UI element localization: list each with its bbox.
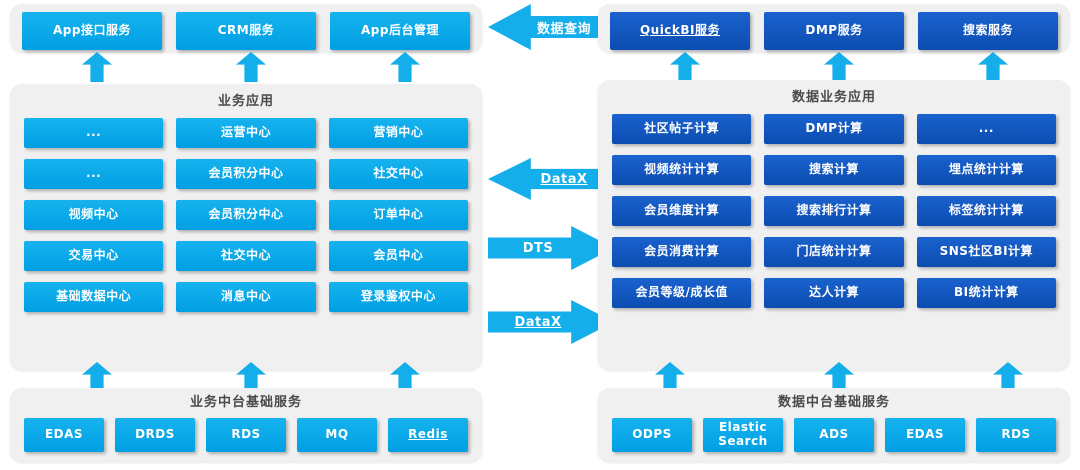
right-app-panel-title: 数据业务应用 [598, 80, 1070, 104]
left-app-panel-title: 业务应用 [10, 84, 482, 108]
center-box[interactable]: 社交中心 [176, 241, 315, 271]
connector-data-query: 数据查询 [488, 4, 614, 50]
infra-service-label: EDAS [906, 428, 944, 442]
infra-service-label: DRDS [135, 428, 175, 442]
center-box[interactable]: 营销中心 [329, 118, 468, 148]
compute-box[interactable]: BI统计计算 [917, 278, 1056, 308]
compute-box[interactable]: 搜索排行计算 [764, 196, 903, 226]
service-box-dmp[interactable]: DMP服务 [764, 12, 904, 50]
infra-service-label: RDS [1001, 428, 1030, 442]
infra-service-label: RDS [231, 428, 260, 442]
left-infra-panel-title: 业务中台基础服务 [10, 388, 482, 409]
infra-service-edas[interactable]: EDAS [885, 418, 965, 452]
infra-service-ads[interactable]: ADS [794, 418, 874, 452]
infra-service-edas[interactable]: EDAS [24, 418, 104, 452]
arrow-up-to-app-interface [82, 52, 112, 82]
right-top-service-panel: QuickBI服务 DMP服务 搜索服务 [598, 4, 1070, 52]
compute-box[interactable]: 会员维度计算 [612, 196, 751, 226]
center-label: 登录鉴权中心 [361, 290, 436, 304]
compute-box[interactable]: 埋点统计计算 [917, 155, 1056, 185]
compute-box[interactable]: 标签统计计算 [917, 196, 1056, 226]
service-box-crm[interactable]: CRM服务 [176, 12, 316, 50]
compute-label: 达人计算 [809, 286, 859, 300]
infra-service-odps[interactable]: ODPS [612, 418, 692, 452]
compute-label: BI统计计算 [954, 286, 1019, 300]
center-box[interactable]: 视频中心 [24, 200, 163, 230]
center-label: 会员积分中心 [208, 208, 283, 222]
arrow-up-to-app-admin [390, 52, 420, 82]
center-label: ... [86, 167, 101, 181]
infra-service-label: MQ [325, 428, 348, 442]
compute-box[interactable]: 会员等级/成长值 [612, 278, 751, 308]
left-infra-service-row: EDAS DRDS RDS MQ Redis [24, 418, 468, 452]
compute-box[interactable]: 门店统计计算 [764, 237, 903, 267]
connector-label: 数据查询 [537, 18, 591, 37]
left-top-service-panel: App接口服务 CRM服务 App后台管理 [10, 4, 482, 52]
service-label: App接口服务 [53, 24, 131, 38]
compute-box[interactable]: 搜索计算 [764, 155, 903, 185]
compute-label: 搜索排行计算 [796, 204, 871, 218]
infra-service-label: Redis [408, 428, 448, 442]
center-box[interactable]: 会员中心 [329, 241, 468, 271]
infra-service-redis[interactable]: Redis [388, 418, 468, 452]
center-label: 社交中心 [221, 249, 271, 263]
compute-label: 搜索计算 [809, 163, 859, 177]
infra-service-rds[interactable]: RDS [976, 418, 1056, 452]
service-box-app-interface[interactable]: App接口服务 [22, 12, 162, 50]
center-box[interactable]: ... [24, 118, 163, 148]
compute-label: SNS社区BI计算 [940, 245, 1033, 259]
infra-service-elasticsearch[interactable]: Elastic Search [703, 418, 783, 452]
connector-datax-top: DataX [488, 158, 614, 200]
infra-service-label: ODPS [632, 428, 672, 442]
center-label: 运营中心 [221, 126, 271, 140]
infra-service-rds[interactable]: RDS [206, 418, 286, 452]
compute-label: 标签统计计算 [949, 204, 1024, 218]
service-box-quickbi[interactable]: QuickBI服务 [610, 12, 750, 50]
compute-label: 埋点统计计算 [949, 163, 1024, 177]
center-label: 基础数据中心 [56, 290, 131, 304]
arrow-up-to-crm [236, 52, 266, 82]
compute-box[interactable]: 会员消费计算 [612, 237, 751, 267]
service-label: DMP服务 [805, 24, 862, 38]
left-center-grid: ... 运营中心 营销中心 ... 会员积分中心 社交中心 视频中心 会员积分中… [24, 118, 468, 312]
connector-datax-bottom: DataX [488, 300, 614, 344]
center-label: 交易中心 [69, 249, 119, 263]
compute-label: 会员等级/成长值 [635, 286, 727, 300]
center-label: 营销中心 [373, 126, 423, 140]
center-label: 视频中心 [69, 208, 119, 222]
infra-service-label: Elastic Search [705, 421, 781, 449]
connector-label: DataX [540, 172, 587, 187]
connector-label: DataX [514, 315, 561, 330]
service-label: CRM服务 [218, 24, 275, 38]
center-box[interactable]: 会员积分中心 [176, 200, 315, 230]
arrow-up-to-search [978, 52, 1008, 82]
center-box[interactable]: 基础数据中心 [24, 282, 163, 312]
right-infra-service-row: ODPS Elastic Search ADS EDAS RDS [612, 418, 1056, 452]
compute-label: 会员维度计算 [644, 204, 719, 218]
center-box[interactable]: 订单中心 [329, 200, 468, 230]
compute-label: 门店统计计算 [796, 245, 871, 259]
center-box[interactable]: 运营中心 [176, 118, 315, 148]
infra-service-label: ADS [819, 428, 848, 442]
center-label: 社交中心 [373, 167, 423, 181]
compute-box[interactable]: 达人计算 [764, 278, 903, 308]
left-infra-panel: 业务中台基础服务 EDAS DRDS RDS MQ Redis [10, 388, 482, 462]
center-box[interactable]: 消息中心 [176, 282, 315, 312]
compute-box[interactable]: 社区帖子计算 [612, 114, 751, 144]
compute-label: 会员消费计算 [644, 245, 719, 259]
arrow-up-to-dmp [824, 52, 854, 82]
right-infra-panel: 数据中台基础服务 ODPS Elastic Search ADS EDAS RD… [598, 388, 1070, 462]
service-box-search[interactable]: 搜索服务 [918, 12, 1058, 50]
arrow-up-to-quickbi [670, 52, 700, 82]
architecture-diagram: App接口服务 CRM服务 App后台管理 业务应用 ... 运营中心 营销中心… [0, 0, 1080, 470]
compute-label: 社区帖子计算 [644, 122, 719, 136]
center-box[interactable]: 社交中心 [329, 159, 468, 189]
compute-box[interactable]: 视频统计计算 [612, 155, 751, 185]
center-box[interactable]: 会员积分中心 [176, 159, 315, 189]
center-box[interactable]: 登录鉴权中心 [329, 282, 468, 312]
compute-label: 视频统计计算 [644, 163, 719, 177]
infra-service-mq[interactable]: MQ [297, 418, 377, 452]
center-label: ... [86, 126, 101, 140]
center-box[interactable]: ... [24, 159, 163, 189]
compute-label: ... [979, 122, 994, 136]
right-compute-grid: 社区帖子计算 DMP计算 ... 视频统计计算 搜索计算 埋点统计计算 会员维度… [612, 114, 1056, 308]
right-data-app-panel: 数据业务应用 社区帖子计算 DMP计算 ... 视频统计计算 搜索计算 埋点统计… [598, 80, 1070, 370]
service-label: 搜索服务 [963, 24, 1013, 38]
connector-label: DTS [523, 241, 554, 256]
right-infra-panel-title: 数据中台基础服务 [598, 388, 1070, 409]
compute-label: DMP计算 [805, 122, 862, 136]
center-label: 会员积分中心 [208, 167, 283, 181]
compute-box[interactable]: ... [917, 114, 1056, 144]
infra-service-label: EDAS [45, 428, 83, 442]
center-label: 消息中心 [221, 290, 271, 304]
service-label: App后台管理 [361, 24, 439, 38]
connector-dts: DTS [488, 226, 614, 270]
service-label: QuickBI服务 [640, 24, 720, 38]
center-label: 会员中心 [373, 249, 423, 263]
center-box[interactable]: 交易中心 [24, 241, 163, 271]
center-label: 订单中心 [373, 208, 423, 222]
compute-box[interactable]: SNS社区BI计算 [917, 237, 1056, 267]
service-box-app-admin[interactable]: App后台管理 [330, 12, 470, 50]
left-business-app-panel: 业务应用 ... 运营中心 营销中心 ... 会员积分中心 社交中心 视频中心 … [10, 84, 482, 370]
infra-service-drds[interactable]: DRDS [115, 418, 195, 452]
compute-box[interactable]: DMP计算 [764, 114, 903, 144]
